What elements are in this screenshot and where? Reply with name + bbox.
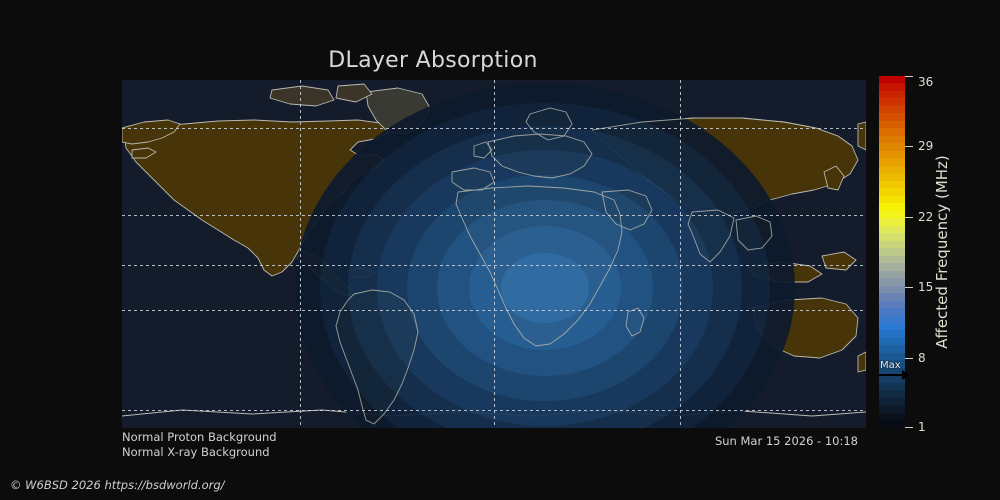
colorbar-band xyxy=(879,203,905,210)
colorbar-band xyxy=(879,233,905,240)
colorbar-band xyxy=(879,91,905,98)
colorbar-band xyxy=(879,263,905,270)
colorbar-band xyxy=(879,128,905,135)
colorbar-band xyxy=(879,398,905,405)
colorbar-band xyxy=(879,308,905,315)
colorbar-band xyxy=(879,158,905,165)
colorbar-band xyxy=(879,173,905,180)
colorbar-band xyxy=(879,106,905,113)
colorbar-band xyxy=(879,271,905,278)
colorbar-band xyxy=(879,338,905,345)
colorbar-band xyxy=(879,390,905,397)
page-root: DLayer Absorption xyxy=(0,0,1000,500)
map-canvas xyxy=(122,80,866,428)
colorbar[interactable]: 1815222936 Max xyxy=(879,76,905,428)
colorbar-band xyxy=(879,405,905,412)
colorbar-band xyxy=(879,76,905,83)
colorbar-band xyxy=(879,226,905,233)
colorbar-tick xyxy=(905,287,913,288)
colorbar-band xyxy=(879,241,905,248)
colorbar-axis-label-text: Affected Frequency (MHz) xyxy=(933,155,951,349)
colorbar-tick xyxy=(905,76,913,77)
colorbar-band xyxy=(879,286,905,293)
colorbar-band xyxy=(879,293,905,300)
colorbar-band xyxy=(879,83,905,90)
colorbar-band xyxy=(879,420,905,427)
colorbar-band xyxy=(879,256,905,263)
colorbar-band xyxy=(879,218,905,225)
colorbar-band xyxy=(879,166,905,173)
colorbar-axis-label: Affected Frequency (MHz) xyxy=(930,76,954,428)
colorbar-band xyxy=(879,301,905,308)
colorbar-band xyxy=(879,211,905,218)
world-map[interactable] xyxy=(122,80,866,428)
page-title: DLayer Absorption xyxy=(0,48,866,73)
colorbar-band xyxy=(879,316,905,323)
colorbar-tick xyxy=(905,146,913,147)
colorbar-band xyxy=(879,323,905,330)
colorbar-band xyxy=(879,113,905,120)
proton-background-status: Normal Proton Background xyxy=(122,430,277,444)
colorbar-band xyxy=(879,143,905,150)
colorbar-band xyxy=(879,413,905,420)
timestamp: Sun Mar 15 2026 - 10:18 xyxy=(715,434,858,448)
credit-line: © W6BSD 2026 https://bsdworld.org/ xyxy=(10,478,225,492)
colorbar-band xyxy=(879,121,905,128)
colorbar-tick xyxy=(905,217,913,218)
colorbar-band xyxy=(879,151,905,158)
colorbar-band xyxy=(879,383,905,390)
colorbar-tick xyxy=(905,427,913,428)
colorbar-band xyxy=(879,248,905,255)
colorbar-band xyxy=(879,345,905,352)
colorbar-band xyxy=(879,330,905,337)
colorbar-band xyxy=(879,136,905,143)
colorbar-band xyxy=(879,278,905,285)
xray-background-status: Normal X-ray Background xyxy=(122,445,270,459)
colorbar-tick-label: 1 xyxy=(918,420,926,434)
max-marker-label: Max xyxy=(880,360,901,371)
colorbar-band xyxy=(879,98,905,105)
max-marker-arrow-icon xyxy=(879,374,903,376)
colorbar-band xyxy=(879,188,905,195)
coastline-layer xyxy=(122,80,866,428)
colorbar-tick-label: 8 xyxy=(918,351,926,365)
colorbar-tick xyxy=(905,358,913,359)
max-marker: Max xyxy=(879,362,909,384)
colorbar-band xyxy=(879,196,905,203)
colorbar-band xyxy=(879,181,905,188)
